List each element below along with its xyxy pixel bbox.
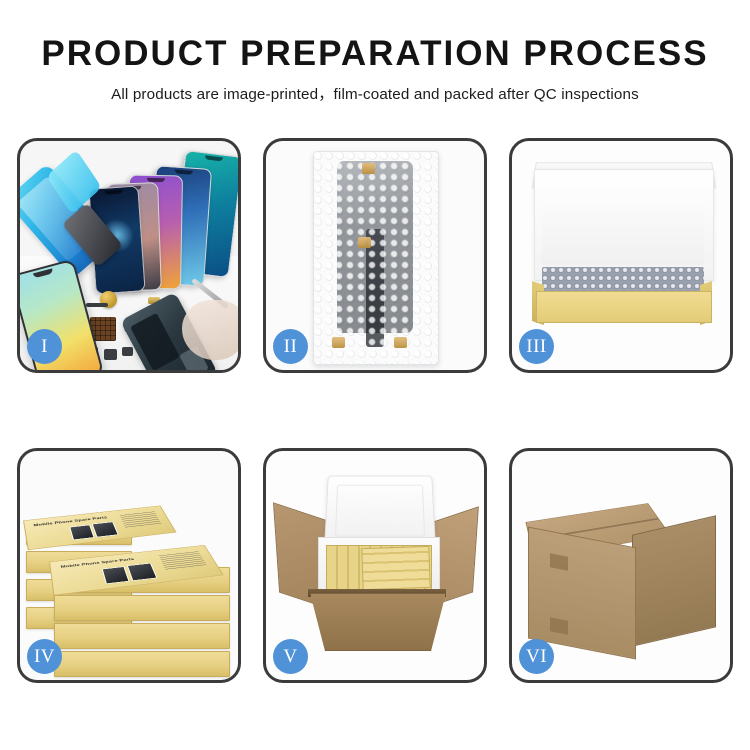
step-badge-2: II: [273, 329, 308, 364]
page-title: PRODUCT PREPARATION PROCESS: [0, 36, 750, 73]
step-panel-1[interactable]: I: [17, 138, 241, 373]
box-window-front-2: [127, 563, 158, 581]
tape-tab-middle: [358, 237, 371, 248]
step-badge-6: VI: [519, 639, 554, 674]
tape-tab-bottom-right: [394, 337, 407, 348]
step-badge-1: I: [27, 329, 62, 364]
foam-sheet: [542, 197, 704, 265]
step-panel-4[interactable]: Mobile Phone Spare Parts Mobile Phone Sp…: [17, 448, 241, 683]
step-badge-3: III: [519, 329, 554, 364]
notch-icon: [175, 170, 193, 175]
page-header: PRODUCT PREPARATION PROCESS All products…: [0, 36, 750, 104]
box-window-rear-2: [92, 521, 119, 537]
box-edge-f3: [54, 623, 230, 649]
box-edge-f4: [54, 651, 230, 677]
tape-tab-bottom-left: [332, 337, 345, 348]
step-panel-3[interactable]: III: [509, 138, 733, 373]
carton-front-panel: [310, 593, 446, 651]
carton-front-panel: [528, 527, 636, 660]
process-step-grid: I II: [17, 138, 733, 683]
box-spec-lines-rear: [120, 511, 162, 529]
part-button: [122, 347, 133, 356]
step-badge-4: IV: [27, 639, 62, 674]
step-panel-2[interactable]: II: [263, 138, 487, 373]
box-spec-lines-front: [159, 551, 207, 571]
page-subtitle: All products are image-printed，film-coat…: [0, 82, 750, 104]
step-panel-5[interactable]: V: [263, 448, 487, 683]
notch-icon: [105, 189, 123, 194]
part-camera: [104, 349, 117, 360]
box-window-rear-1: [69, 525, 94, 541]
bubble-wrapped-contents: [542, 267, 704, 293]
notch-icon: [205, 155, 223, 161]
product-preparation-page: PRODUCT PREPARATION PROCESS All products…: [0, 0, 750, 750]
box-front-panel: [536, 291, 712, 323]
part-antenna: [86, 303, 108, 307]
step-badge-5: V: [273, 639, 308, 674]
box-stack: Mobile Phone Spare Parts Mobile Phone Sp…: [26, 475, 238, 665]
step-panel-6[interactable]: VI: [509, 448, 733, 683]
phone-fan-group: [92, 153, 238, 285]
box-window-front-1: [101, 566, 129, 584]
box-edge-f2: [54, 595, 230, 621]
carton-side-panel: [632, 515, 716, 646]
notch-icon: [33, 268, 54, 278]
inner-boxes-stack: [361, 546, 430, 590]
tape-tab-top: [362, 163, 375, 174]
